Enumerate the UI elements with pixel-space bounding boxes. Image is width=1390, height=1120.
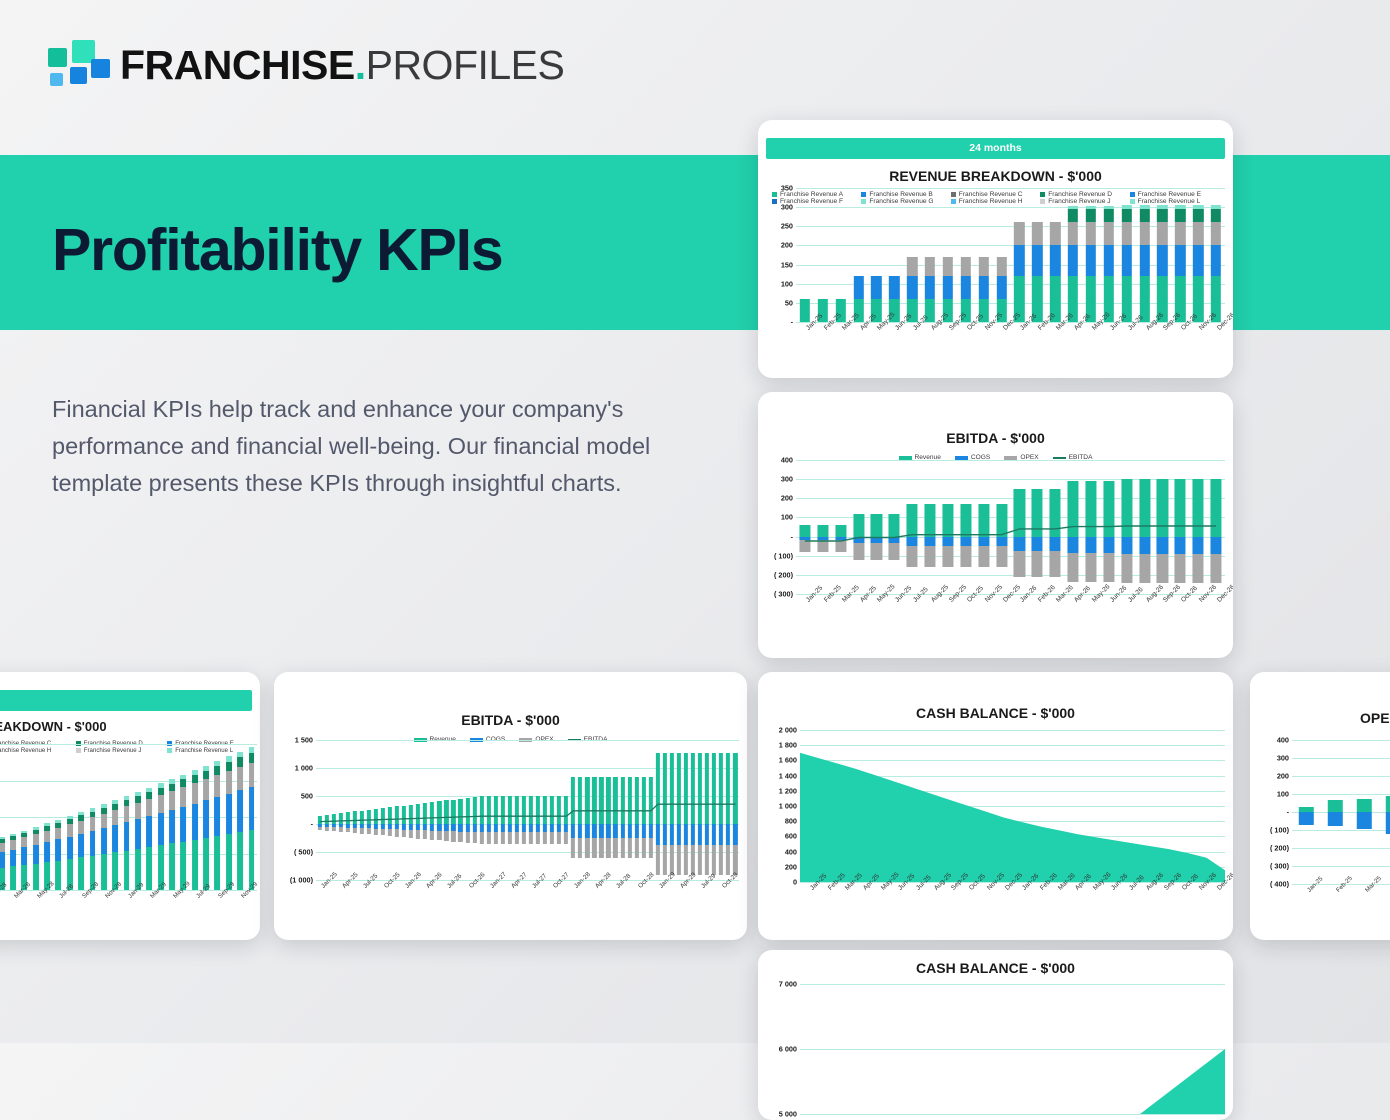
card-opex[interactable]: OPE 400300200100-( 100)( 200)( 300)( 400… xyxy=(1250,672,1390,940)
bar-segment xyxy=(1193,222,1203,245)
bar-column xyxy=(814,188,832,322)
x-tick: Jun-25 xyxy=(889,884,907,932)
x-tick: Feb-26 xyxy=(1030,884,1048,932)
chart-title: EBITDA - $'000 xyxy=(274,712,747,728)
x-tick: Jan-25 xyxy=(800,884,818,932)
x-tick: Sep-28 xyxy=(75,892,86,934)
squares-logo-icon xyxy=(48,40,104,90)
y-axis: 400300200100-( 100)( 200)( 300)( 400) xyxy=(1258,740,1292,884)
x-tick: Apr-25 xyxy=(850,324,868,360)
bar-column xyxy=(7,744,18,890)
x-tick: Jul-26 xyxy=(1118,324,1136,360)
x-tick xyxy=(584,882,591,934)
bar-segment xyxy=(1175,245,1185,276)
page-title: Profitability KPIs xyxy=(52,216,503,284)
x-tick xyxy=(704,882,711,934)
bar-segment xyxy=(33,845,39,864)
bar-segment xyxy=(192,770,198,775)
x-tick: Mar-26 xyxy=(1046,324,1064,360)
bar-segment xyxy=(871,276,881,299)
x-tick: Feb-26 xyxy=(1028,324,1046,360)
x-tick: Feb-25 xyxy=(814,596,832,644)
bar-column xyxy=(993,188,1011,322)
x-tick: Apr-26 xyxy=(1064,596,1082,644)
chart-plot-area: 1 5001 000500-( 500)(1 000)Jan-25Apr-25J… xyxy=(282,740,739,932)
x-tick: Mar-25 xyxy=(832,324,850,360)
x-tick: Mar-25 xyxy=(1350,886,1379,934)
x-tick xyxy=(386,882,393,934)
bar-segment xyxy=(1299,812,1313,825)
bar-segment xyxy=(67,837,73,859)
x-tick: Sep-29 xyxy=(212,892,223,934)
x-tick: Mar-26 xyxy=(1046,596,1064,644)
x-tick: Jul-26 xyxy=(1118,596,1136,644)
bar-segment xyxy=(146,847,152,890)
bar-segment xyxy=(55,823,61,828)
chart-title: CASH BALANCE - $'000 xyxy=(758,960,1233,976)
bar-series xyxy=(1292,740,1390,884)
bar-column xyxy=(796,188,814,322)
x-tick: Jul-25 xyxy=(903,324,921,360)
bar-segment xyxy=(1193,209,1203,222)
chart-title: EBITDA - $'000 xyxy=(758,430,1233,446)
x-tick: Jul-25 xyxy=(903,596,921,644)
cash-balance-area xyxy=(766,984,1225,1114)
x-tick: Aug-26 xyxy=(1136,324,1154,360)
bar-segment xyxy=(78,812,84,815)
bar-segment xyxy=(226,762,232,771)
y-tick-label: 200 xyxy=(781,241,793,250)
x-tick xyxy=(534,882,541,934)
bar-segment xyxy=(1157,245,1167,276)
bar-segment xyxy=(10,840,16,850)
bar-segment xyxy=(90,812,96,818)
x-tick: Apr-29 xyxy=(675,882,682,934)
x-tick xyxy=(668,882,675,934)
bar-segment xyxy=(800,299,810,322)
bar-segment xyxy=(135,792,141,796)
chart-title: OPE xyxy=(1360,710,1390,726)
bar-segment xyxy=(1175,209,1185,222)
card-cash-balance-5y[interactable]: CASH BALANCE - $'000 7 0006 0005 000 xyxy=(758,950,1233,1120)
x-tick xyxy=(647,882,654,934)
x-tick: Jun-25 xyxy=(885,324,903,360)
bar-segment xyxy=(67,816,73,819)
x-tick xyxy=(415,882,422,934)
x-tick xyxy=(457,882,464,934)
bar-segment xyxy=(1357,812,1371,829)
x-tick: Jan-29 xyxy=(654,882,661,934)
y-tick-label: 300 xyxy=(1277,754,1289,763)
bar-segment xyxy=(1086,206,1096,209)
bar-segment xyxy=(55,828,61,840)
x-tick: Jul-25 xyxy=(906,884,924,932)
bar-segment xyxy=(44,826,50,831)
bar-column xyxy=(41,744,52,890)
x-tick: Sep-25 xyxy=(939,596,957,644)
x-tick xyxy=(436,882,443,934)
x-tick xyxy=(132,892,143,934)
x-tick: Jan-27 xyxy=(485,882,492,934)
card-revenue-breakdown-5y[interactable]: 5 years REAKDOWN - $'000 Franchise Reven… xyxy=(0,672,260,940)
x-tick: Jan-25 xyxy=(316,882,323,934)
bar-segment xyxy=(135,796,141,803)
bar-segment xyxy=(1122,245,1132,276)
bar-column xyxy=(868,188,886,322)
x-tick xyxy=(520,882,527,934)
x-tick: Oct-25 xyxy=(957,324,975,360)
bar-segment xyxy=(237,752,243,758)
x-tick: May-25 xyxy=(868,596,886,644)
brand-name-part2: PROFILES xyxy=(366,42,565,88)
x-tick: Mar-28 xyxy=(7,892,18,934)
bar-segment xyxy=(1175,205,1185,209)
x-tick: Oct-26 xyxy=(464,882,471,934)
bar-segment xyxy=(55,861,61,890)
card-ebitda-5y[interactable]: EBITDA - $'000 Revenue COGS OPEX EBITDA … xyxy=(274,672,747,940)
x-tick: Nov-26 xyxy=(1189,596,1207,644)
x-tick: Jan-25 xyxy=(796,324,814,360)
bar-segment xyxy=(215,775,221,797)
x-tick xyxy=(478,882,485,934)
bar-segment xyxy=(90,831,96,856)
bar-column xyxy=(200,744,211,890)
bar-column xyxy=(1064,188,1082,322)
bar-segment xyxy=(203,771,209,780)
bar-segment xyxy=(1086,222,1096,245)
x-tick xyxy=(0,892,7,934)
bar-segment xyxy=(925,276,935,299)
x-tick: Oct-25 xyxy=(959,884,977,932)
bar-segment xyxy=(1014,245,1024,276)
bar-segment xyxy=(124,851,130,890)
bar-segment xyxy=(226,794,232,834)
y-tick-label: 400 xyxy=(1277,736,1289,745)
x-tick xyxy=(429,882,436,934)
x-tick: Apr-25 xyxy=(1379,886,1390,934)
x-tick: Nov-29 xyxy=(235,892,246,934)
bar-column xyxy=(1189,188,1207,322)
bar-segment xyxy=(124,822,130,850)
x-tick: Feb-26 xyxy=(1028,596,1046,644)
brand-name-part1: FRANCHISE xyxy=(120,42,355,88)
x-tick xyxy=(246,892,257,934)
bar-segment xyxy=(33,864,39,890)
bar-segment xyxy=(169,810,175,843)
x-tick: Aug-25 xyxy=(924,884,942,932)
bar-segment xyxy=(158,813,164,845)
bar-segment xyxy=(101,854,107,890)
bar-segment xyxy=(101,808,107,814)
card-ebitda-24m[interactable]: EBITDA - $'000 Revenue COGS OPEX EBITDA … xyxy=(758,392,1233,658)
x-tick xyxy=(64,892,75,934)
bar-segment xyxy=(249,753,255,763)
bar-segment xyxy=(1104,245,1114,276)
x-tick: May-26 xyxy=(1082,324,1100,360)
bar-segment xyxy=(1032,245,1042,276)
x-tick xyxy=(619,882,626,934)
x-tick: Oct-25 xyxy=(379,882,386,934)
bar-segment xyxy=(135,819,141,848)
brand-name-dot: . xyxy=(355,42,366,88)
bar-segment xyxy=(996,276,1006,299)
bar-segment xyxy=(226,771,232,794)
bar-segment xyxy=(249,787,255,830)
chart-title: CASH BALANCE - $'000 xyxy=(758,705,1233,721)
bar-segment xyxy=(146,792,152,799)
bar-segment xyxy=(1086,209,1096,222)
bar-segment xyxy=(33,834,39,845)
bar-segment xyxy=(215,766,221,775)
x-tick xyxy=(471,882,478,934)
y-tick-label: 200 xyxy=(1277,772,1289,781)
x-tick: Jan-25 xyxy=(1292,886,1321,934)
y-tick-label: ( 200) xyxy=(1270,844,1289,853)
bar-column xyxy=(223,744,234,890)
bar-column xyxy=(1082,188,1100,322)
gridline xyxy=(800,1114,1225,1115)
bar-segment xyxy=(44,831,50,842)
x-tick xyxy=(41,892,52,934)
x-axis: Jan-25Apr-25Jul-25Oct-25Jan-26Apr-26Jul-… xyxy=(316,882,739,934)
bar-column xyxy=(903,188,921,322)
bar-segment xyxy=(180,775,186,780)
bar-column xyxy=(53,744,64,890)
chart-plot-area: 2 0001 8001 6001 4001 2001 0008006004002… xyxy=(766,730,1225,930)
x-tick: May-28 xyxy=(30,892,41,934)
bar-column xyxy=(110,744,121,890)
x-tick: Jul-29 xyxy=(189,892,200,934)
x-tick: Jul-28 xyxy=(53,892,64,934)
bar-column xyxy=(75,744,86,890)
bar-segment xyxy=(67,824,73,837)
bar-segment xyxy=(1193,245,1203,276)
tab-5-years[interactable]: 5 years xyxy=(0,690,252,711)
x-tick: Dec-25 xyxy=(993,324,1011,360)
x-tick: Jul-27 xyxy=(527,882,534,934)
bar-column xyxy=(166,744,177,890)
bar-segment xyxy=(979,276,989,299)
bar-column xyxy=(1046,188,1064,322)
x-tick: Jan-29 xyxy=(121,892,132,934)
bar-segment xyxy=(33,830,39,834)
bar-segment xyxy=(1386,812,1390,834)
bar-column xyxy=(0,744,7,890)
x-tick: Nov-25 xyxy=(975,596,993,644)
brand-logo: FRANCHISE.PROFILES xyxy=(48,40,564,90)
x-tick: Jun-26 xyxy=(1100,324,1118,360)
chart-plot-area: Mar-27May-27Jul-27Sep-27Nov-27Jan-28Mar-… xyxy=(0,744,257,932)
bar-column xyxy=(850,188,868,322)
bar-segment xyxy=(226,756,232,761)
bar-column xyxy=(64,744,75,890)
bar-segment xyxy=(0,837,5,839)
tab-24-months[interactable]: 24 months xyxy=(766,138,1225,159)
bar-segment xyxy=(146,816,152,847)
bar-column xyxy=(1292,740,1321,884)
bar-segment xyxy=(237,757,243,767)
x-tick: Apr-26 xyxy=(422,882,429,934)
x-tick xyxy=(330,882,337,934)
bar-segment xyxy=(112,804,118,810)
card-revenue-breakdown-24m[interactable]: 24 months REVENUE BREAKDOWN - $'000 Fran… xyxy=(758,120,1233,378)
x-tick xyxy=(365,882,372,934)
bar-segment xyxy=(1211,222,1221,245)
x-tick xyxy=(450,882,457,934)
x-tick: Jul-29 xyxy=(697,882,704,934)
bar-segment xyxy=(21,833,27,837)
bar-segment xyxy=(1386,796,1390,812)
bar-segment xyxy=(961,276,971,299)
bar-segment xyxy=(1104,209,1114,222)
bar-segment xyxy=(21,831,27,833)
bar-column xyxy=(212,744,223,890)
x-tick: Nov-26 xyxy=(1189,324,1207,360)
bar-segment xyxy=(44,823,50,826)
y-tick-label: 50 xyxy=(785,298,793,307)
bar-segment xyxy=(180,807,186,842)
bar-column xyxy=(1350,740,1379,884)
bar-segment xyxy=(203,766,209,771)
bar-segment xyxy=(78,834,84,857)
x-tick: May-25 xyxy=(871,884,889,932)
y-tick-label: 150 xyxy=(781,260,793,269)
x-tick: Jul-26 xyxy=(443,882,450,934)
x-tick xyxy=(87,892,98,934)
x-tick: Sep-26 xyxy=(1154,596,1172,644)
bar-segment xyxy=(249,747,255,753)
bar-segment xyxy=(124,806,130,822)
x-tick: Apr-25 xyxy=(853,884,871,932)
bar-segment xyxy=(1328,812,1342,826)
bar-column xyxy=(87,744,98,890)
bar-segment xyxy=(996,257,1006,276)
bar-column xyxy=(132,744,143,890)
x-tick: Sep-26 xyxy=(1154,324,1172,360)
bar-segment xyxy=(101,828,107,854)
bar-segment xyxy=(112,800,118,804)
x-tick: May-26 xyxy=(1083,884,1101,932)
x-axis: Jan-25Feb-25Mar-25Apr-25May-25Jun-25Jul-… xyxy=(796,324,1225,360)
bar-segment xyxy=(21,837,27,847)
bar-segment xyxy=(192,840,198,890)
brand-name: FRANCHISE.PROFILES xyxy=(120,45,564,86)
x-tick xyxy=(394,882,401,934)
bar-segment xyxy=(237,767,243,791)
x-tick xyxy=(155,892,166,934)
bar-column xyxy=(1100,188,1118,322)
bar-segment xyxy=(10,836,16,840)
bar-segment xyxy=(112,825,118,852)
bar-segment xyxy=(1032,222,1042,245)
bar-segment xyxy=(158,783,164,787)
bar-segment xyxy=(943,276,953,299)
bar-column xyxy=(939,188,957,322)
x-tick: Jul-28 xyxy=(612,882,619,934)
x-axis: Jan-25Feb-25Mar-25Apr-25May-25Jun-25Jul-… xyxy=(796,596,1225,644)
x-tick xyxy=(577,882,584,934)
bar-segment xyxy=(1068,209,1078,222)
chart-plot-area: 7 0006 0005 000 xyxy=(766,984,1225,1114)
bar-segment xyxy=(55,820,61,823)
x-tick xyxy=(563,882,570,934)
bar-segment xyxy=(249,763,255,787)
bar-segment xyxy=(961,257,971,276)
x-tick: Apr-25 xyxy=(850,596,868,644)
x-tick: Jan-25 xyxy=(796,596,814,644)
bar-segment xyxy=(1104,222,1114,245)
bar-segment xyxy=(907,257,917,276)
bar-segment xyxy=(101,814,107,829)
chart-title: REVENUE BREAKDOWN - $'000 xyxy=(758,168,1233,184)
chart-plot-area: 35030025020015010050-Jan-25Feb-25Mar-25A… xyxy=(766,188,1225,358)
x-tick xyxy=(408,882,415,934)
y-tick-label: 100 xyxy=(1277,790,1289,799)
bar-segment xyxy=(21,847,27,865)
bar-segment xyxy=(1193,205,1203,209)
x-tick: Feb-25 xyxy=(818,884,836,932)
x-tick: Aug-26 xyxy=(1136,596,1154,644)
x-tick: Nov-26 xyxy=(1189,884,1207,932)
x-tick: Aug-25 xyxy=(921,324,939,360)
y-tick-label: ( 400) xyxy=(1270,880,1289,889)
y-tick-label: ( 100) xyxy=(1270,826,1289,835)
bar-segment xyxy=(101,804,107,807)
x-tick: Aug-26 xyxy=(1136,884,1154,932)
bar-segment xyxy=(1139,205,1149,209)
bar-segment xyxy=(1139,245,1149,276)
x-tick: Nov-25 xyxy=(977,884,995,932)
bar-segment xyxy=(192,783,198,803)
bar-segment xyxy=(215,761,221,766)
bar-segment xyxy=(1328,800,1342,812)
bar-segment xyxy=(1050,222,1060,245)
x-tick: Mar-29 xyxy=(144,892,155,934)
y-tick-label: 350 xyxy=(781,184,793,193)
bar-segment xyxy=(90,817,96,831)
x-axis: Jan-25Feb-25Mar-25Apr-25May-25Jun-25Jul-… xyxy=(1292,886,1390,934)
bar-segment xyxy=(1122,205,1132,209)
bar-segment xyxy=(1122,209,1132,222)
bar-column xyxy=(1379,740,1390,884)
bar-segment xyxy=(158,788,164,795)
bar-segment xyxy=(1068,222,1078,245)
bar-segment xyxy=(90,808,96,811)
x-tick: Jun-26 xyxy=(1101,884,1119,932)
bar-segment xyxy=(146,799,152,816)
x-tick: Oct-26 xyxy=(1172,884,1190,932)
x-tick: Feb-25 xyxy=(1321,886,1350,934)
bar-segment xyxy=(10,834,16,836)
bar-segment xyxy=(44,842,50,862)
bar-segment xyxy=(1211,245,1221,276)
x-tick xyxy=(223,892,234,934)
x-tick: Apr-28 xyxy=(591,882,598,934)
card-cash-balance-24m[interactable]: CASH BALANCE - $'000 2 0001 8001 6001 40… xyxy=(758,672,1233,940)
x-tick: Apr-25 xyxy=(337,882,344,934)
bar-segment xyxy=(0,843,5,852)
bar-segment xyxy=(1068,206,1078,209)
bar-segment xyxy=(169,791,175,810)
x-tick: Sep-25 xyxy=(942,884,960,932)
x-tick: Oct-29 xyxy=(718,882,725,934)
x-tick xyxy=(732,882,739,934)
x-tick: Apr-26 xyxy=(1064,324,1082,360)
bar-segment xyxy=(215,797,221,836)
x-tick: Sep-26 xyxy=(1154,884,1172,932)
bar-segment xyxy=(215,836,221,890)
x-tick: Dec-26 xyxy=(1207,596,1225,644)
